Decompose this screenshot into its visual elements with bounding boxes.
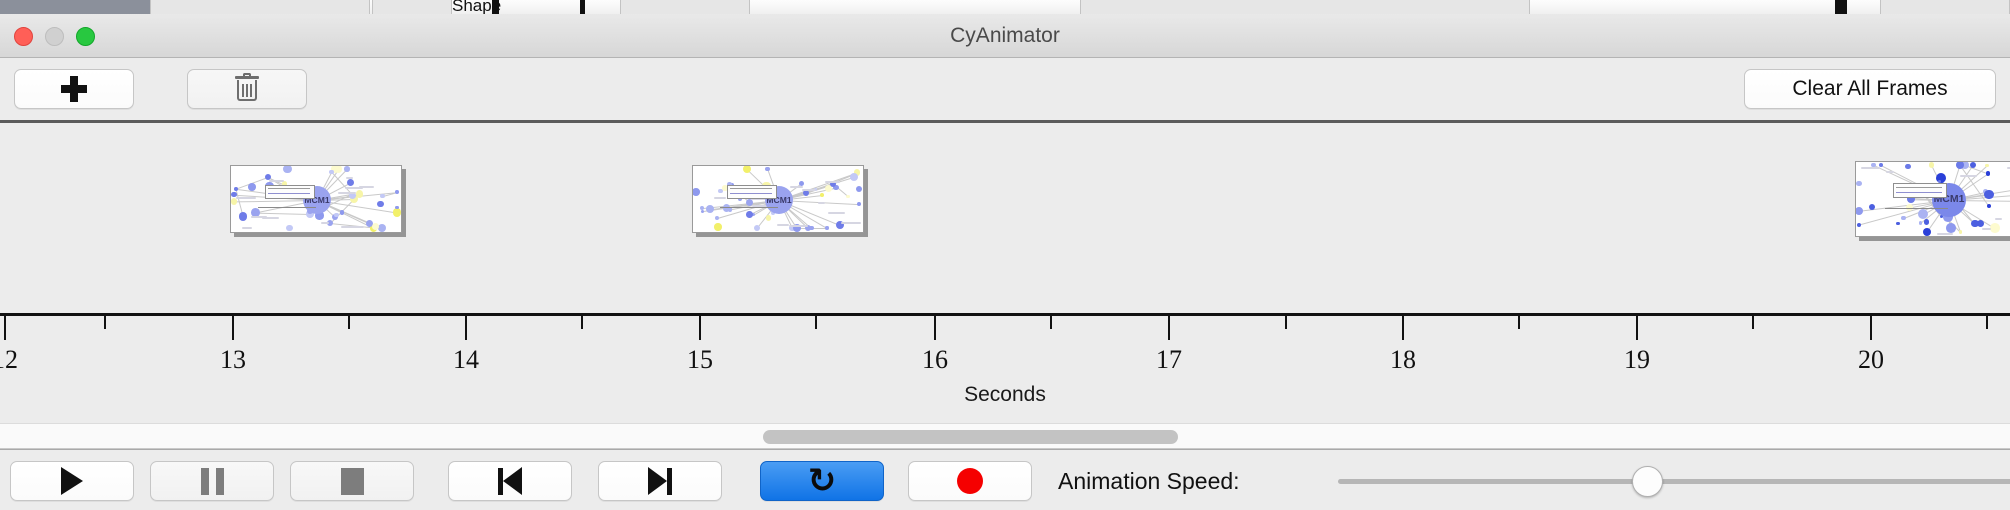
network-node-label xyxy=(789,225,808,227)
network-node-label xyxy=(321,222,329,224)
record-button[interactable] xyxy=(908,461,1032,501)
network-node xyxy=(714,223,721,230)
network-tooltip-line xyxy=(730,193,772,194)
axis-tick xyxy=(934,316,936,340)
network-tooltip xyxy=(1893,183,1947,198)
trash-icon xyxy=(235,76,259,102)
network-tooltip-line xyxy=(1896,192,1942,193)
network-node xyxy=(1857,223,1861,227)
network-node xyxy=(234,187,238,191)
network-node xyxy=(706,205,714,213)
play-button[interactable] xyxy=(10,461,134,501)
network-node xyxy=(1956,161,1964,169)
record-icon xyxy=(957,468,983,494)
network-tooltip-line xyxy=(1896,187,1942,188)
axis-tick xyxy=(1986,316,1988,329)
skip-forward-icon xyxy=(648,467,672,495)
network-node-label xyxy=(1886,171,1894,173)
network-node-label xyxy=(1937,233,1954,235)
network-node xyxy=(377,201,383,207)
timeline-ruler[interactable]: 121314151617181920 Seconds xyxy=(0,313,2010,423)
animation-speed-slider-thumb[interactable] xyxy=(1632,466,1663,497)
window-title: CyAnimator xyxy=(0,14,2010,58)
network-node xyxy=(1855,207,1863,215)
network-node xyxy=(356,190,364,198)
skip-to-start-button[interactable] xyxy=(448,461,572,501)
network-node-label xyxy=(251,216,268,218)
network-node xyxy=(393,208,402,217)
timeline-frame-thumbnail[interactable]: MCM1 xyxy=(692,165,864,233)
network-tooltip xyxy=(265,185,315,199)
network-node xyxy=(846,195,850,199)
playback-control-bar: ↻ Animation Speed: xyxy=(0,449,2010,510)
cyanimator-window: Shape CyAnimator Clear All Frames MC xyxy=(0,0,2010,510)
network-node xyxy=(825,226,828,229)
network-node xyxy=(380,194,384,198)
axis-tick xyxy=(348,316,350,329)
animation-speed-slider[interactable] xyxy=(1338,479,2010,484)
network-node xyxy=(1923,228,1932,237)
axis-tick xyxy=(1402,316,1404,340)
network-node-label xyxy=(344,226,364,228)
axis-tick-label: 13 xyxy=(220,345,246,375)
network-node xyxy=(1986,171,1990,175)
network-node-label xyxy=(841,222,861,224)
axis-tick xyxy=(465,316,467,340)
network-node xyxy=(1896,222,1900,226)
network-thumbnail-image: MCM1 xyxy=(693,166,863,232)
network-caption-line xyxy=(720,207,778,208)
network-node xyxy=(1929,162,1935,168)
network-node-label xyxy=(269,180,284,182)
network-thumbnail-image: MCM1 xyxy=(1856,162,2010,236)
axis-tick-label: 19 xyxy=(1624,345,1650,375)
network-node-label xyxy=(825,181,840,183)
axis-tick xyxy=(1870,316,1872,340)
network-node xyxy=(766,215,772,221)
loop-icon: ↻ xyxy=(808,464,837,498)
network-node xyxy=(334,213,339,218)
network-node-label xyxy=(242,227,252,229)
network-node-label xyxy=(818,202,825,204)
axis-tick xyxy=(1752,316,1754,329)
network-node xyxy=(347,179,354,186)
timeline-frame-thumbnail[interactable]: MCM1 xyxy=(1855,161,2010,237)
network-node xyxy=(283,165,292,173)
axis-tick xyxy=(232,316,234,340)
network-node xyxy=(856,186,862,192)
network-node xyxy=(1990,223,2000,233)
network-node xyxy=(1985,164,1989,168)
scrollbar-thumb[interactable] xyxy=(763,430,1178,444)
axis-tick-label: 15 xyxy=(687,345,713,375)
network-tooltip-line xyxy=(730,188,772,189)
pause-button[interactable] xyxy=(150,461,274,501)
delete-frame-button[interactable] xyxy=(187,69,307,109)
network-node xyxy=(335,165,342,172)
axis-tick-label: 18 xyxy=(1390,345,1416,375)
network-node xyxy=(1919,221,1922,224)
pause-icon xyxy=(201,468,224,495)
network-edge xyxy=(256,212,311,214)
axis-tick xyxy=(699,316,701,340)
axis-tick xyxy=(104,316,106,329)
network-node xyxy=(378,224,386,232)
skip-back-icon xyxy=(498,467,522,495)
network-node xyxy=(746,211,753,218)
network-node xyxy=(1970,162,1976,168)
axis-tick xyxy=(1050,316,1052,329)
axis-title: Seconds xyxy=(0,383,2010,407)
network-node xyxy=(1971,220,1978,227)
network-thumbnail-image: MCM1 xyxy=(231,166,401,232)
network-node xyxy=(340,210,344,214)
network-node xyxy=(231,198,237,204)
network-node-label xyxy=(1861,167,1879,169)
bg-dark-panel xyxy=(0,0,150,14)
network-node xyxy=(715,216,719,220)
axis-line xyxy=(0,313,2010,316)
play-icon xyxy=(61,467,83,495)
axis-tick-label: 17 xyxy=(1156,345,1182,375)
network-caption-line xyxy=(1885,208,1948,209)
network-node xyxy=(820,193,824,197)
axis-tick-label: 12 xyxy=(0,345,18,375)
network-node xyxy=(329,170,334,175)
axis-tick xyxy=(4,316,6,340)
network-node-label xyxy=(1960,175,1977,177)
skip-to-end-button[interactable] xyxy=(598,461,722,501)
axis-tick-label: 20 xyxy=(1858,345,1884,375)
frame-strip[interactable]: MCM1MCM1MCM1 xyxy=(0,123,2010,313)
network-node xyxy=(286,225,293,232)
axis-tick-label: 14 xyxy=(453,345,479,375)
network-node-label xyxy=(790,186,803,188)
network-node-label xyxy=(1995,218,2002,220)
stop-icon xyxy=(341,468,364,495)
network-caption-line xyxy=(258,207,316,208)
network-node xyxy=(239,212,247,220)
network-node-label xyxy=(338,192,357,194)
network-node xyxy=(857,202,861,206)
axis-tick xyxy=(1285,316,1287,329)
network-node xyxy=(1984,190,1993,199)
axis-tick xyxy=(1168,316,1170,340)
network-node xyxy=(1924,219,1930,225)
network-node xyxy=(1959,230,1962,233)
network-tooltip xyxy=(727,185,777,199)
network-node xyxy=(1987,204,1991,208)
network-node xyxy=(248,183,256,191)
axis-tick-label: 16 xyxy=(922,345,948,375)
toolbar: Clear All Frames xyxy=(0,58,2010,120)
network-node-label xyxy=(777,224,788,226)
network-node xyxy=(1856,181,1862,187)
network-node xyxy=(1905,164,1910,169)
network-node-label xyxy=(236,197,256,199)
network-node-label xyxy=(1982,228,1992,230)
title-bar: CyAnimator xyxy=(0,14,2010,58)
axis-tick xyxy=(581,316,583,329)
network-node xyxy=(692,188,699,195)
network-node xyxy=(1901,216,1906,221)
add-frame-button[interactable] xyxy=(14,69,134,109)
axis-tick xyxy=(815,316,817,329)
background-window-strip: Shape xyxy=(0,0,2010,14)
network-node xyxy=(395,190,399,194)
bg-shape-label: Shape xyxy=(452,0,501,14)
stop-button[interactable] xyxy=(290,461,414,501)
network-node xyxy=(395,206,398,209)
network-node xyxy=(850,173,858,181)
network-node-label xyxy=(714,197,726,199)
network-node xyxy=(344,166,350,172)
network-node xyxy=(765,167,770,172)
network-tooltip-line xyxy=(268,188,310,189)
animation-speed-label: Animation Speed: xyxy=(1058,461,1240,501)
timeline-frame-thumbnail[interactable]: MCM1 xyxy=(230,165,402,233)
network-node-label xyxy=(345,187,363,189)
plus-icon xyxy=(61,76,87,102)
network-tooltip-line xyxy=(268,193,310,194)
network-node xyxy=(1946,223,1956,233)
network-node-label xyxy=(802,189,816,191)
loop-button[interactable]: ↻ xyxy=(760,461,884,501)
horizontal-scrollbar[interactable] xyxy=(0,423,2010,449)
clear-all-frames-button[interactable]: Clear All Frames xyxy=(1744,69,1996,109)
axis-tick xyxy=(1636,316,1638,340)
axis-tick xyxy=(1518,316,1520,329)
network-node-label xyxy=(828,212,845,214)
network-node xyxy=(754,225,760,231)
